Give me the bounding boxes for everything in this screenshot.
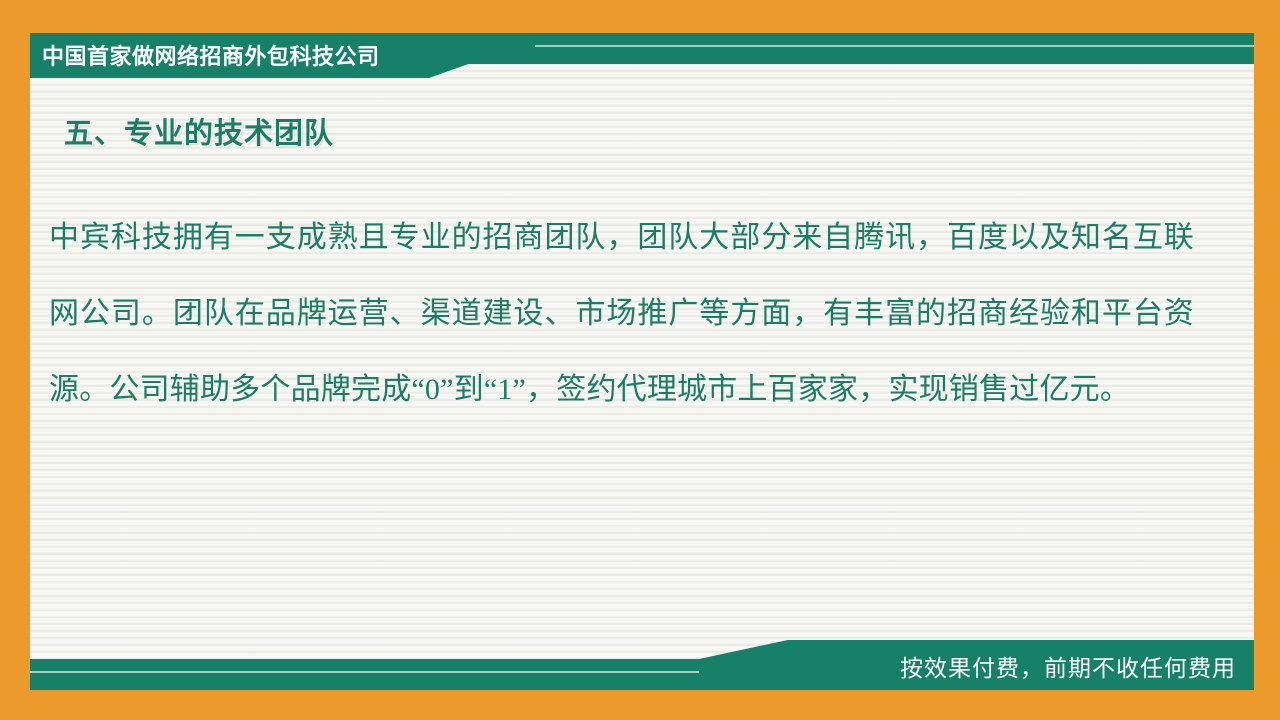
- slide-content: 五、专业的技术团队 中宾科技拥有一支成熟且专业的招商团队，团队大部分来自腾讯，百…: [30, 110, 1254, 428]
- slide-canvas: 中国首家做网络招商外包科技公司 五、专业的技术团队 中宾科技拥有一支成熟且专业的…: [0, 0, 1280, 720]
- body-paragraph: 中宾科技拥有一支成熟且专业的招商团队，团队大部分来自腾讯，百度以及知名互联网公司…: [49, 200, 1194, 428]
- section-title: 五、专业的技术团队: [64, 110, 1254, 152]
